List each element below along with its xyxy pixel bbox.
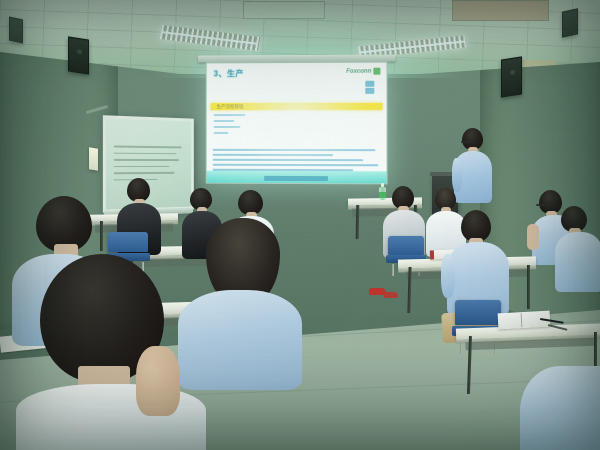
person-student-12 — [520, 366, 600, 450]
slide-stamp-icon — [365, 81, 374, 94]
speaker-icon — [562, 8, 578, 37]
person-student-1 — [16, 254, 206, 450]
classroom-photo: 3、生产 Foxconn 生产流程管理 — [0, 0, 600, 450]
slide-logo-mark-icon — [373, 68, 380, 75]
speaker-icon — [9, 17, 23, 44]
shoe — [384, 292, 398, 298]
ceiling-access-panel — [452, 0, 549, 21]
slide-highlight-bar: 生产流程管理 — [211, 103, 383, 110]
speaker-icon — [68, 36, 89, 74]
slide-bullet-lines — [214, 114, 283, 138]
slide-logo-text: Foxconn — [346, 68, 371, 74]
desk-leg — [527, 265, 530, 309]
slide-logo: Foxconn — [346, 68, 380, 75]
ceiling-access-panel — [243, 1, 325, 19]
slide-footer — [207, 171, 387, 184]
slide-title: 3、生产 — [214, 68, 244, 79]
speaker-icon — [501, 56, 522, 97]
projection-screen: 3、生产 Foxconn 生产流程管理 — [206, 62, 388, 185]
person-student-11 — [555, 206, 600, 302]
light-switch[interactable] — [89, 147, 98, 171]
slide: 3、生产 Foxconn 生产流程管理 — [207, 63, 387, 184]
desk-leg — [356, 205, 360, 239]
screen-surface: 3、生产 Foxconn 生产流程管理 — [206, 62, 388, 185]
slide-highlight-text: 生产流程管理 — [217, 104, 244, 110]
